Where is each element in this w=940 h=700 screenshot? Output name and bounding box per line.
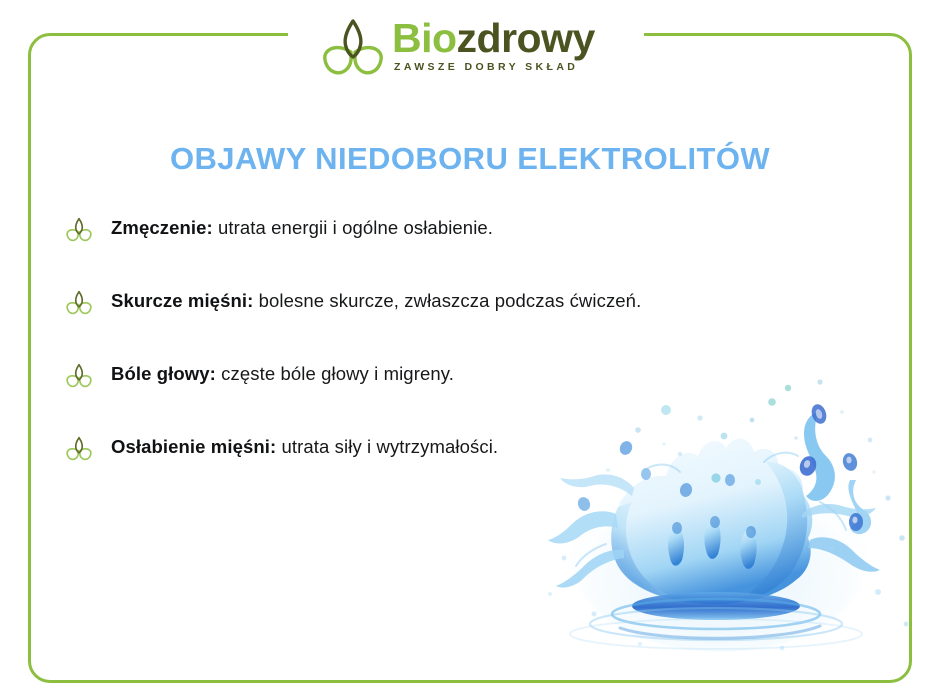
leaf-bullet-icon: [66, 217, 92, 243]
symptom-term: Zmęczenie:: [111, 217, 213, 238]
logo-wordmark: Biozdrowy ZAWSZE DOBRY SKŁAD: [392, 17, 595, 74]
page-title: OBJAWY NIEDOBORU ELEKTROLITÓW: [0, 139, 940, 179]
symptom-text: Zmęczenie: utrata energii i ogólne osłab…: [111, 215, 493, 241]
brand-logo: Biozdrowy ZAWSZE DOBRY SKŁAD: [322, 12, 612, 82]
logo-tagline: ZAWSZE DOBRY SKŁAD: [392, 60, 595, 74]
logo-word-zdrowy: zdrowy: [457, 15, 595, 61]
symptom-term: Bóle głowy:: [111, 363, 216, 384]
list-item: Skurcze mięśni: bolesne skurcze, zwłaszc…: [66, 288, 856, 361]
leaf-bullet-icon: [66, 436, 92, 462]
symptom-description: utrata energii i ogólne osłabienie.: [218, 217, 493, 238]
symptom-text: Bóle głowy: częste bóle głowy i migreny.: [111, 361, 454, 387]
logo-word-bio: Bio: [392, 15, 457, 61]
list-item: Osłabienie mięśni: utrata siły i wytrzym…: [66, 434, 856, 507]
biozdrowy-leaf-logo-icon: [322, 19, 384, 77]
symptom-text: Skurcze mięśni: bolesne skurcze, zwłaszc…: [111, 288, 641, 314]
leaf-bullet-icon: [66, 290, 92, 316]
symptom-text: Osłabienie mięśni: utrata siły i wytrzym…: [111, 434, 498, 460]
symptom-description: częste bóle głowy i migreny.: [221, 363, 454, 384]
leaf-bullet-icon: [66, 363, 92, 389]
symptom-term: Osłabienie mięśni:: [111, 436, 276, 457]
symptom-description: bolesne skurcze, zwłaszcza podczas ćwicz…: [259, 290, 642, 311]
symptom-description: utrata siły i wytrzymałości.: [282, 436, 499, 457]
list-item: Zmęczenie: utrata energii i ogólne osłab…: [66, 215, 856, 288]
symptom-term: Skurcze mięśni:: [111, 290, 253, 311]
list-item: Bóle głowy: częste bóle głowy i migreny.: [66, 361, 856, 434]
symptom-list: Zmęczenie: utrata energii i ogólne osłab…: [66, 215, 856, 507]
